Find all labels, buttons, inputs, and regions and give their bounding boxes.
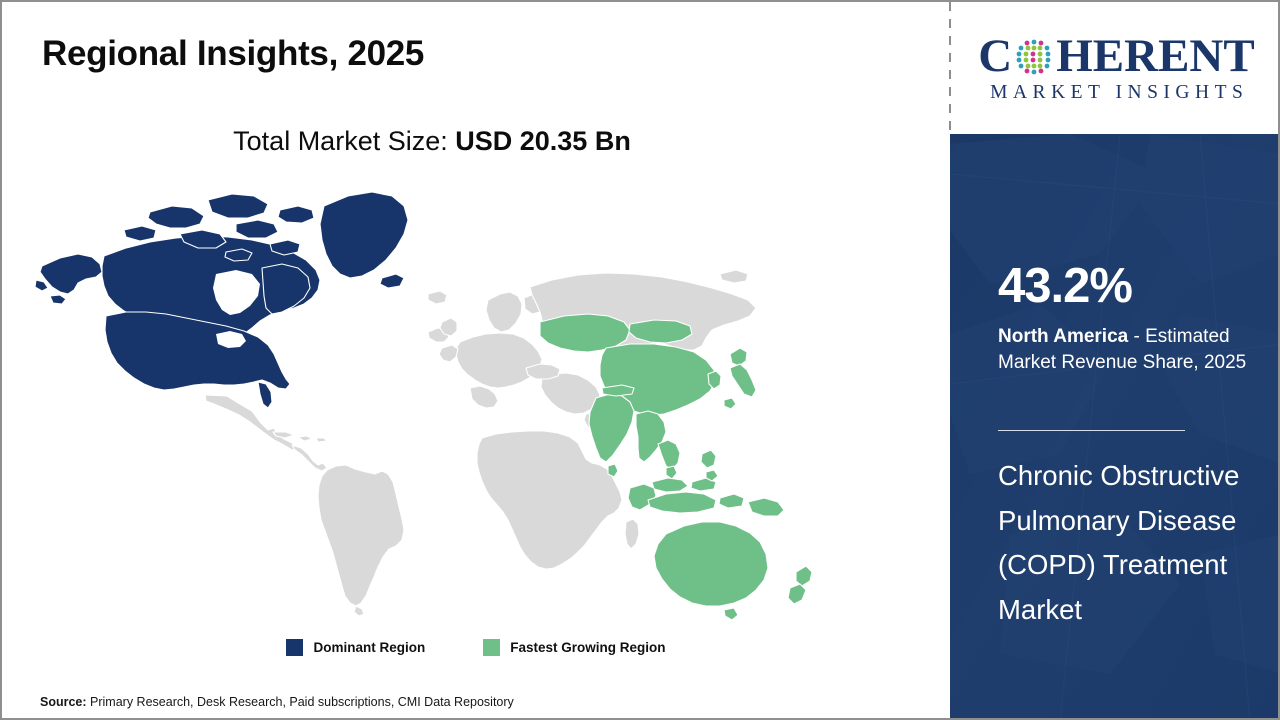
logo-globe-dots-icon	[1014, 37, 1054, 77]
legend-label-dominant: Dominant Region	[313, 640, 425, 655]
market-share-value: 43.2%	[998, 262, 1132, 311]
logo-letter-c: C	[978, 33, 1012, 80]
legend-item-fastest-growing: Fastest Growing Region	[483, 639, 665, 656]
brand-logo-box: C	[951, 2, 1280, 134]
share-region-name: North America	[998, 326, 1128, 347]
source-note: Source: Primary Research, Desk Research,…	[40, 695, 514, 709]
market-share-description: North America - Estimated Market Revenue…	[998, 324, 1260, 376]
world-map	[30, 182, 850, 622]
legend-swatch-dominant-icon	[286, 639, 303, 656]
map-region-north-america	[35, 192, 408, 408]
page-title: Regional Insights, 2025	[42, 34, 424, 74]
legend-item-dominant: Dominant Region	[286, 639, 425, 656]
logo-wordmark: C	[971, 33, 1263, 80]
logo-tagline: MARKET INSIGHTS	[971, 83, 1263, 103]
left-content-pane: Regional Insights, 2025 Total Market Siz…	[2, 2, 950, 720]
total-market-size: Total Market Size: USD 20.35 Bn	[2, 126, 862, 157]
map-legend: Dominant Region Fastest Growing Region	[2, 639, 950, 656]
market-size-prefix: Total Market Size:	[233, 126, 448, 156]
legend-swatch-fastest-growing-icon	[483, 639, 500, 656]
infographic-page: Regional Insights, 2025 Total Market Siz…	[0, 0, 1280, 720]
panel-divider-rule	[998, 430, 1185, 431]
market-name-title: Chronic Obstructive Pulmonary Disease (C…	[998, 454, 1250, 632]
highlight-panel: 43.2% North America - Estimated Market R…	[950, 134, 1280, 720]
coherent-market-insights-logo: C	[971, 33, 1263, 103]
source-text: Primary Research, Desk Research, Paid su…	[90, 695, 514, 709]
legend-label-fastest-growing: Fastest Growing Region	[510, 640, 665, 655]
panel-content: 43.2% North America - Estimated Market R…	[998, 134, 1266, 720]
logo-letters-herent: HERENT	[1056, 33, 1255, 80]
source-label: Source:	[40, 695, 87, 709]
market-size-value: USD 20.35 Bn	[455, 126, 631, 156]
